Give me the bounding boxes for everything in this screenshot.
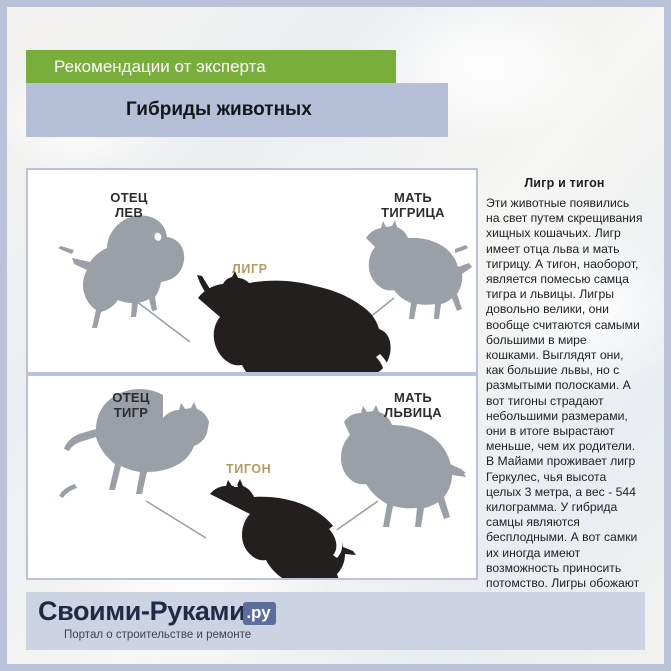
tigon-hybrid-label: ТИГОН: [226, 462, 271, 476]
page-title-band: Гибриды животных: [26, 83, 448, 137]
tigress-mother-silhouette: [366, 220, 472, 319]
page-title: Гибриды животных: [26, 83, 448, 137]
ligr-mother-label: МАТЬ ТИГРИЦА: [358, 190, 468, 220]
expert-recommendation-label: Рекомендации от эксперта: [26, 50, 396, 83]
article-body: Эти животные появились на свет путем скр…: [486, 196, 643, 622]
article-column: Лигр и тигон Эти животные появились на с…: [482, 168, 645, 580]
site-logo-text: Своими-Руками: [38, 596, 245, 627]
tigon-diagram-panel: ОТЕЦ ТИГР МАТЬ ЛЬВИЦА ТИГОН: [28, 376, 476, 578]
site-logo-domain-badge: .ру: [243, 602, 275, 625]
infographic-page: Рекомендации от эксперта Гибриды животны…: [0, 0, 671, 671]
site-logo[interactable]: Своими-Руками.ру Портал о строительстве …: [38, 596, 276, 641]
article-heading: Лигр и тигон: [486, 176, 643, 190]
tigon-mother-label: МАТЬ ЛЬВИЦА: [358, 390, 468, 420]
diagram-column: ОТЕЦ ЛЕВ МАТЬ ТИГРИЦА ЛИГР: [26, 168, 478, 580]
tigon-hybrid-silhouette: [210, 478, 356, 578]
footer-band: Своими-Руками.ру Портал о строительстве …: [26, 592, 645, 650]
lioness-mother-silhouette: [341, 405, 466, 527]
ligr-diagram-panel: ОТЕЦ ЛЕВ МАТЬ ТИГРИЦА ЛИГР: [28, 170, 476, 372]
ligr-hybrid-silhouette: [197, 271, 391, 372]
content-area: ОТЕЦ ЛЕВ МАТЬ ТИГРИЦА ЛИГР: [26, 168, 645, 580]
site-tagline: Портал о строительстве и ремонте: [64, 629, 276, 641]
tigon-father-label: ОТЕЦ ТИГР: [76, 390, 186, 420]
lion-father-silhouette: [58, 216, 184, 329]
ligr-hybrid-label: ЛИГР: [232, 262, 268, 276]
expert-recommendation-badge: Рекомендации от эксперта: [26, 50, 396, 83]
ligr-father-label: ОТЕЦ ЛЕВ: [74, 190, 184, 220]
